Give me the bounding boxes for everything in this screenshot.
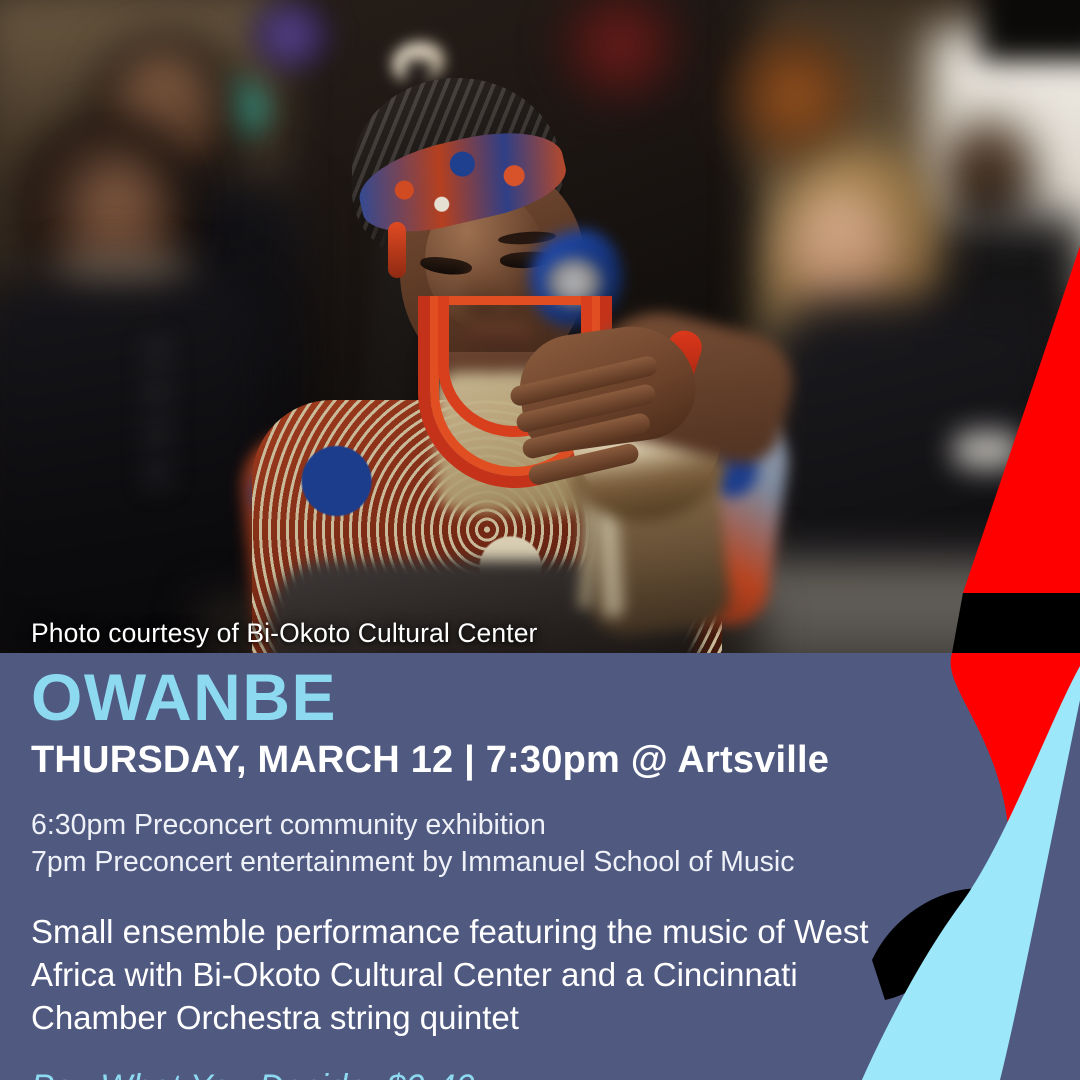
event-title: OWANBE: [31, 664, 931, 730]
photo-credit-caption: Photo courtesy of Bi-Okoto Cultural Cent…: [31, 618, 537, 649]
program-line: 7pm Preconcert entertainment by Immanuel…: [31, 844, 931, 881]
event-photograph: Photo courtesy of Bi-Okoto Cultural Cent…: [0, 0, 1080, 653]
preconcert-program: 6:30pm Preconcert community exhibition 7…: [31, 807, 931, 881]
coral-earring: [388, 222, 406, 278]
program-line: 6:30pm Preconcert community exhibition: [31, 807, 931, 844]
event-poster: Photo courtesy of Bi-Okoto Cultural Cent…: [0, 0, 1080, 1080]
panel-text-block: OWANBE THURSDAY, MARCH 12 | 7:30pm @ Art…: [31, 653, 931, 1080]
event-datetime-venue: THURSDAY, MARCH 12 | 7:30pm @ Artsville: [31, 740, 931, 781]
ticket-price-note: Pay What You Decide, $0-40: [31, 1068, 931, 1080]
drummer-figure: [0, 0, 1080, 653]
event-description: Small ensemble performance featuring the…: [31, 911, 931, 1040]
info-panel: OWANBE THURSDAY, MARCH 12 | 7:30pm @ Art…: [0, 653, 1080, 1080]
